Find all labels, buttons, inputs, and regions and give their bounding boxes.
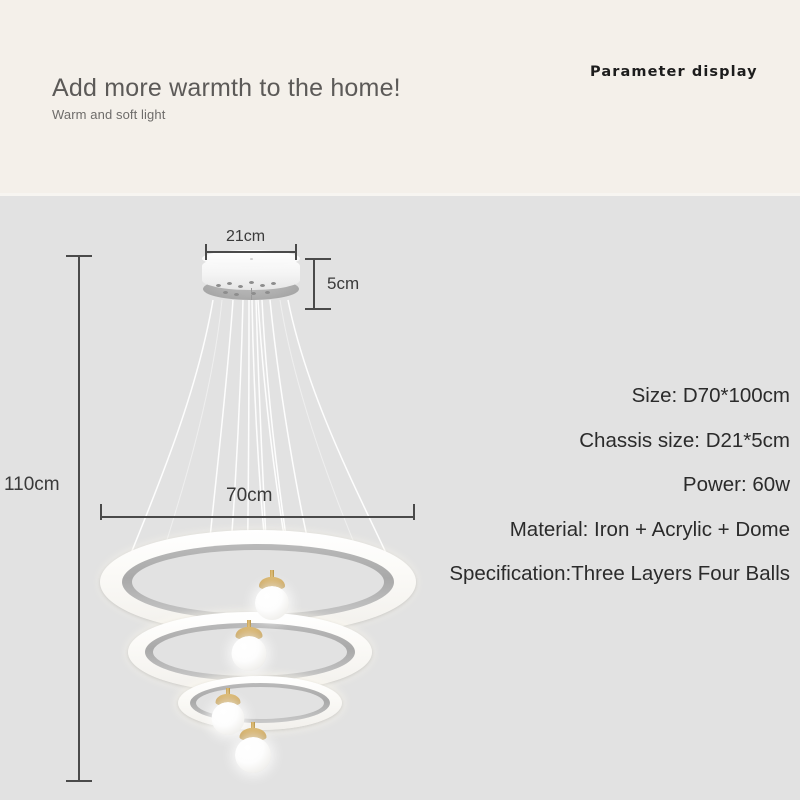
dim-5cm-cap-top — [305, 258, 331, 260]
dim-5cm-label: 5cm — [327, 274, 359, 294]
dim-21cm-cap-left — [205, 244, 207, 260]
wire-anchor — [271, 282, 276, 285]
spec-material: Material: Iron + Acrylic + Dome — [370, 508, 790, 553]
wire-anchor — [223, 291, 228, 294]
wire-anchor-pin — [251, 295, 252, 300]
pendant-ball — [230, 722, 276, 782]
dim-21cm-line — [205, 251, 297, 253]
wire-anchor — [234, 293, 239, 296]
spec-size: Size: D70*100cm — [370, 374, 790, 419]
dim-5cm-line — [313, 258, 315, 310]
spec-chassis-size: Chassis size: D21*5cm — [370, 419, 790, 464]
dim-5cm-cap-bottom — [305, 308, 331, 310]
spec-specification: Specification:Three Layers Four Balls — [370, 552, 790, 597]
spec-power: Power: 60w — [370, 463, 790, 508]
wire-anchor — [216, 284, 221, 287]
wire-anchor — [227, 282, 232, 285]
ceiling-canopy — [196, 248, 306, 310]
wire-anchor — [249, 281, 254, 284]
dim-70cm-cap-left — [100, 504, 102, 520]
wire-anchor — [260, 284, 265, 287]
dim-21cm-label: 21cm — [226, 228, 265, 246]
wire-anchor — [265, 291, 270, 294]
wire-anchor-pin — [251, 288, 252, 293]
dim-110cm-cap-top — [66, 255, 92, 257]
canopy-screw — [250, 258, 253, 260]
pendant-ball — [227, 620, 271, 680]
dim-70cm-label: 70cm — [226, 485, 272, 507]
dim-110cm-cap-bottom — [66, 780, 92, 782]
dim-21cm-cap-right — [295, 244, 297, 260]
wire-anchor — [238, 285, 243, 288]
dim-70cm-line — [100, 516, 415, 518]
specification-list: Size: D70*100cm Chassis size: D21*5cm Po… — [370, 374, 790, 597]
product-spec-diagram: Add more warmth to the home! Warm and so… — [0, 0, 800, 800]
dim-110cm-line — [78, 255, 80, 782]
dim-110cm-label: 110cm — [4, 474, 60, 496]
